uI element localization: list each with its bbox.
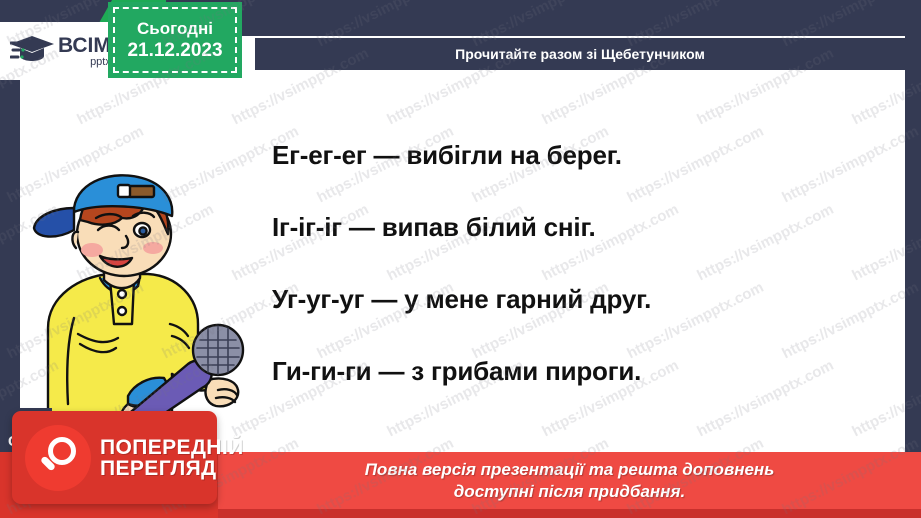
verse-line: Іг-іг-іг — випав білий сніг. bbox=[272, 212, 832, 243]
banner-bottom-strip bbox=[218, 509, 921, 518]
today-date-badge: Сьогодні 21.12.2023 bbox=[108, 2, 242, 78]
presentation-slide: ВСІМ pptx Сьогодні 21.12.2023 Прочитайте… bbox=[0, 0, 921, 518]
purchase-notice-line-1: Повна версія презентації та решта доповн… bbox=[365, 459, 775, 481]
preview-badge[interactable]: ПОПЕРЕДНІЙ ПЕРЕГЛЯД bbox=[12, 411, 217, 504]
purchase-notice-banner: Повна версія презентації та решта доповн… bbox=[218, 452, 921, 509]
boy-with-microphone-illustration bbox=[22, 168, 254, 433]
graduation-cap-icon bbox=[10, 33, 56, 69]
today-date-value: 21.12.2023 bbox=[127, 39, 222, 63]
verse-line: Ег-ег-ег — вибігли на берег. bbox=[272, 140, 832, 171]
preview-badge-line-1: ПОПЕРЕДНІЙ bbox=[100, 437, 244, 458]
today-label: Сьогодні bbox=[137, 18, 213, 39]
brand-name: ВСІМ bbox=[58, 35, 111, 56]
brand-logo-text: ВСІМ pptx bbox=[58, 35, 111, 68]
verse-line: Ги-ги-ги — з грибами пироги. bbox=[272, 356, 832, 387]
page-title: Прочитайте разом зі Щебетунчиком bbox=[455, 46, 705, 62]
purchase-notice-line-2: доступні після придбання. bbox=[454, 481, 685, 503]
slide-frame-right bbox=[905, 0, 921, 518]
verse-text-block: Ег-ег-ег — вибігли на берег. Іг-іг-іг — … bbox=[272, 140, 832, 387]
preview-badge-line-2: ПЕРЕГЛЯД bbox=[100, 458, 244, 479]
slide-title-bar: Прочитайте разом зі Щебетунчиком bbox=[255, 38, 905, 70]
brand-suffix: pptx bbox=[58, 57, 111, 68]
verse-line: Уг-уг-уг — у мене гарний друг. bbox=[272, 284, 832, 315]
brand-logo: ВСІМ pptx bbox=[0, 22, 112, 80]
preview-badge-text: ПОПЕРЕДНІЙ ПЕРЕГЛЯД bbox=[100, 437, 244, 479]
magnifier-icon bbox=[25, 425, 91, 491]
